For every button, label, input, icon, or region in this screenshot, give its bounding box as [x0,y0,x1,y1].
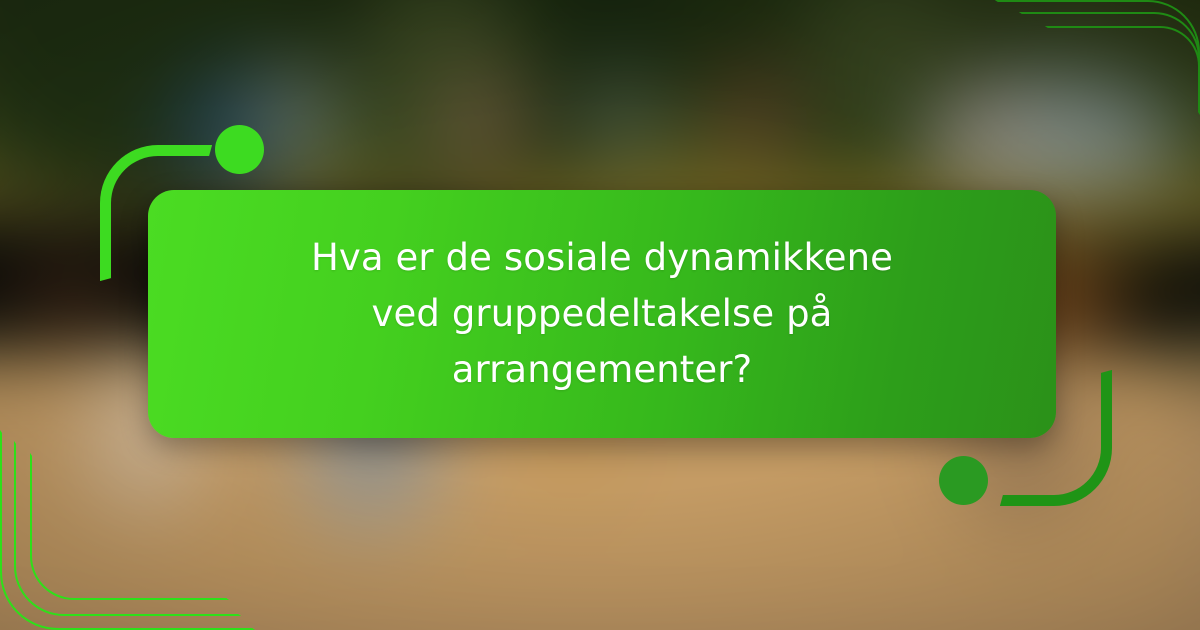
question-text: Hva er de sosiale dynamikkene ved gruppe… [282,230,922,399]
corner-line [30,453,229,600]
corner-lines-top-right [990,0,1200,120]
elbow-accent-bottom-right [1000,370,1112,506]
dot-accent-bottom-right [939,456,988,505]
corner-line [1045,26,1200,111]
slide-canvas: Hva er de sosiale dynamikkene ved gruppe… [0,0,1200,630]
question-card: Hva er de sosiale dynamikkene ved gruppe… [148,190,1056,438]
corner-lines-bottom-left [0,430,260,630]
dot-accent-top-left [215,125,264,174]
